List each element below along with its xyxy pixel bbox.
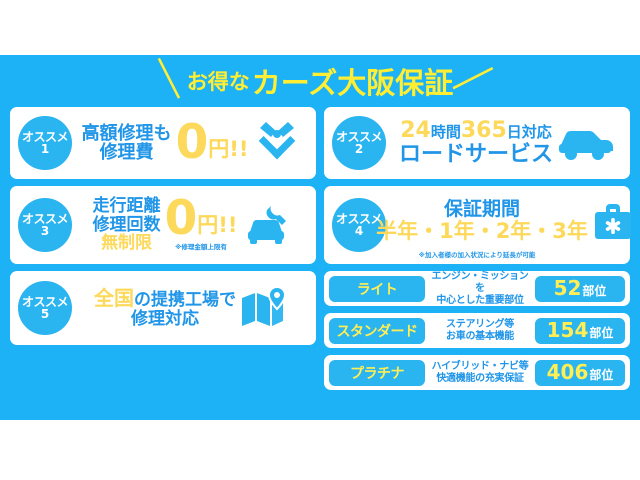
plan-desc-line1: ステアリング等 <box>430 319 530 331</box>
crossed-hammer-wrench-icon <box>252 118 302 168</box>
headline: ＼ お得な カーズ大阪保証 ／ <box>10 55 630 107</box>
feature-panel-3[interactable]: オススメ 3 走行距離 修理回数 無制限 0 円!! ※修理金額上限有 <box>10 186 316 264</box>
feature-4-line2: 半年・1年・2年・3年 <box>376 220 588 243</box>
feature-2-days-unit: 日対応 <box>507 123 552 141</box>
feature-panel-5[interactable]: オススメ 5 全国の提携工場で 修理対応 <box>10 271 316 345</box>
promo-banner: ＼ お得な カーズ大阪保証 ／ オススメ 1 高額修理も 修理費 0 <box>0 55 640 420</box>
feature-4-text: 保証期間 半年・1年・2年・3年 <box>376 199 588 242</box>
feature-3-line3: 無制限 <box>93 234 161 252</box>
feature-2-hours-unit: 時間 <box>431 123 461 141</box>
feature-3-note: ※修理金額上限有 <box>175 241 227 251</box>
badge-2: オススメ 2 <box>332 116 386 170</box>
plan-desc-line2: 快適機能の充実保証 <box>430 373 530 385</box>
feature-5-line1-rest: の提携工場で <box>134 290 236 310</box>
feature-3-text: 走行距離 修理回数 無制限 <box>93 197 161 252</box>
plan-desc-line1: ハイブリッド・ナビ等 <box>430 361 530 373</box>
toolbox-icon <box>590 198 636 244</box>
plan-desc-line1: エンジン・ミッションを <box>430 271 530 295</box>
feature-1-amount-unit: 円!! <box>208 133 248 163</box>
badge-number: 3 <box>41 225 49 237</box>
feature-1-line1: 高額修理も <box>82 124 172 143</box>
plan-desc-line2: お車の基本機能 <box>430 331 530 343</box>
headline-slash-right: ／ <box>451 59 494 102</box>
plan-count-badge: 154 部位 <box>535 318 625 344</box>
feature-2-num-days: 365 <box>461 118 507 143</box>
plan-row-standard[interactable]: スタンダード ステアリング等 お車の基本機能 154 部位 <box>324 313 630 348</box>
headline-prefix: お得な <box>187 66 250 96</box>
badge-number: 4 <box>355 225 363 237</box>
badge-3: オススメ 3 <box>18 198 72 252</box>
plan-count-number: 52 <box>554 276 582 300</box>
feature-3-amount-number: 0 <box>165 199 198 239</box>
feature-1-amount: 0 円!! <box>176 123 249 163</box>
car-icon <box>555 123 613 163</box>
plan-name-badge: プラチナ <box>329 360 425 386</box>
feature-panel-1[interactable]: オススメ 1 高額修理も 修理費 0 円!! <box>10 107 316 179</box>
plan-description: エンジン・ミッションを 中心とした重要部位 <box>430 271 530 307</box>
plan-desc-line2: 中心とした重要部位 <box>430 295 530 307</box>
content-grid: オススメ 1 高額修理も 修理費 0 円!! <box>10 107 630 390</box>
feature-2-line2: ロードサービス <box>399 143 553 167</box>
plan-count-unit: 部位 <box>582 282 606 299</box>
plan-row-platinum[interactable]: プラチナ ハイブリッド・ナビ等 快適機能の充実保証 406 部位 <box>324 355 630 390</box>
left-column: オススメ 1 高額修理も 修理費 0 円!! <box>10 107 316 390</box>
plan-count-badge: 52 部位 <box>535 276 625 302</box>
car-wrench-icon <box>241 200 291 250</box>
feature-1-amount-number: 0 <box>176 123 209 163</box>
feature-5-line1: 全国の提携工場で <box>94 288 236 310</box>
feature-4-note: ※加入者様の加入状況により延長が可能 <box>324 249 630 259</box>
plan-name-badge: ライト <box>329 276 425 302</box>
plan-row-light[interactable]: ライト エンジン・ミッションを 中心とした重要部位 52 部位 <box>324 271 630 306</box>
feature-1-line2: 修理費 <box>82 143 172 162</box>
plan-count-number: 406 <box>547 360 589 384</box>
feature-4-line1: 保証期間 <box>376 199 588 220</box>
feature-1-text: 高額修理も 修理費 <box>82 124 172 163</box>
feature-3-line1: 走行距離 <box>93 197 161 215</box>
plan-count-unit: 部位 <box>589 324 613 341</box>
badge-number: 1 <box>41 143 49 155</box>
feature-panel-2[interactable]: オススメ 2 24時間365日対応 ロードサービス <box>324 107 630 179</box>
feature-3-amount-unit: 円!! <box>197 209 237 239</box>
badge-5: オススメ 5 <box>18 281 72 335</box>
feature-2-line1: 24時間365日対応 <box>399 119 553 143</box>
plan-count-badge: 406 部位 <box>535 360 625 386</box>
plan-count-unit: 部位 <box>589 366 613 383</box>
headline-slash-left: ＼ <box>147 59 190 102</box>
badge-1: オススメ 1 <box>18 116 72 170</box>
right-column: オススメ 2 24時間365日対応 ロードサービス <box>324 107 630 390</box>
plan-description: ハイブリッド・ナビ等 快適機能の充実保証 <box>430 361 530 385</box>
map-pin-icon <box>238 284 290 332</box>
feature-2-text: 24時間365日対応 ロードサービス <box>399 119 553 167</box>
headline-title: カーズ大阪保証 <box>252 60 454 102</box>
badge-number: 5 <box>41 308 49 320</box>
feature-2-num-hours: 24 <box>400 118 431 143</box>
feature-5-line2: 修理対応 <box>94 310 236 328</box>
feature-3-line2: 修理回数 <box>93 216 161 234</box>
plan-description: ステアリング等 お車の基本機能 <box>430 319 530 343</box>
feature-5-highlight: 全国 <box>94 286 134 310</box>
feature-3-amount: 0 円!! <box>165 199 238 239</box>
badge-number: 2 <box>355 143 363 155</box>
plan-name-badge: スタンダード <box>329 318 425 344</box>
feature-5-text: 全国の提携工場で 修理対応 <box>94 288 236 328</box>
feature-panel-4[interactable]: オススメ 4 保証期間 半年・1年・2年・3年 <box>324 186 630 264</box>
plan-count-number: 154 <box>547 318 589 342</box>
